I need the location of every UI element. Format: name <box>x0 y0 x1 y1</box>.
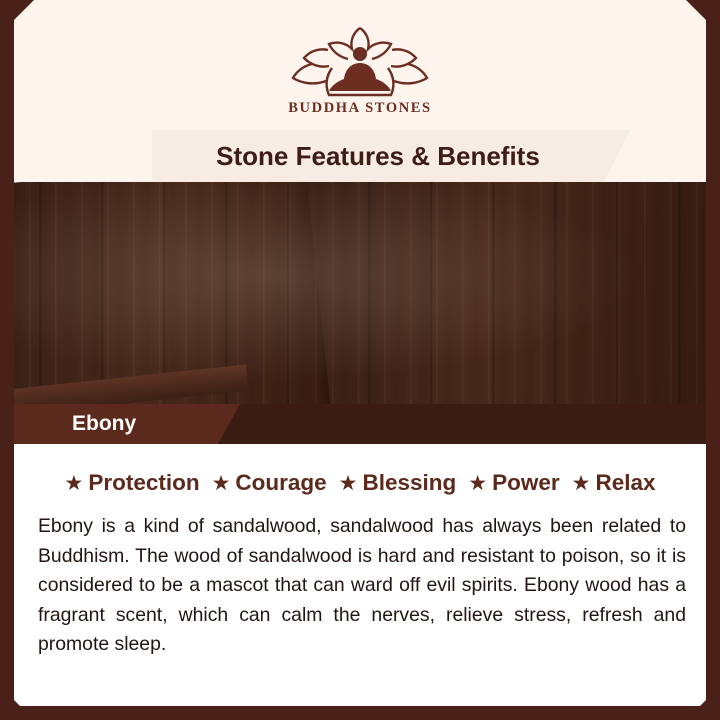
keyword-relax: Relax <box>595 470 655 496</box>
keyword-power: Power <box>492 470 560 496</box>
poster: BUDDHA STONES Stone Features & Benefits … <box>0 0 720 720</box>
frame-corner-bottom-left <box>0 686 34 720</box>
keyword-courage: Courage <box>235 470 326 496</box>
photo-lighting-overlay <box>0 182 720 404</box>
brand-name: BUDDHA STONES <box>0 100 720 117</box>
star-icon: ★ <box>572 471 591 496</box>
frame-right-border <box>706 0 720 720</box>
frame-corner-top-right <box>686 0 720 34</box>
keyword-protection: Protection <box>88 470 199 496</box>
product-name-banner: Ebony <box>0 404 218 444</box>
name-banner-strip <box>218 404 720 444</box>
frame-left-border <box>0 0 14 720</box>
frame-corner-top-left <box>0 0 34 34</box>
brand-logo: BUDDHA STONES <box>0 16 720 117</box>
star-icon: ★ <box>339 471 358 496</box>
page-title: Stone Features & Benefits <box>152 130 604 182</box>
description-text: Ebony is a kind of sandalwood, sandalwoo… <box>38 512 686 660</box>
frame-bottom-border <box>0 706 720 720</box>
keyword-blessing: Blessing <box>363 470 457 496</box>
lotus-meditation-icon <box>284 16 436 98</box>
star-icon: ★ <box>468 471 487 496</box>
star-icon: ★ <box>64 471 83 496</box>
title-banner: Stone Features & Benefits <box>152 130 604 182</box>
product-photo <box>0 182 720 404</box>
frame-corner-bottom-right <box>686 686 720 720</box>
keyword-list: ★Protection ★Courage ★Blessing ★Power ★R… <box>14 470 706 496</box>
content-panel: ★Protection ★Courage ★Blessing ★Power ★R… <box>14 444 706 706</box>
product-name: Ebony <box>72 404 136 444</box>
star-icon: ★ <box>212 471 231 496</box>
